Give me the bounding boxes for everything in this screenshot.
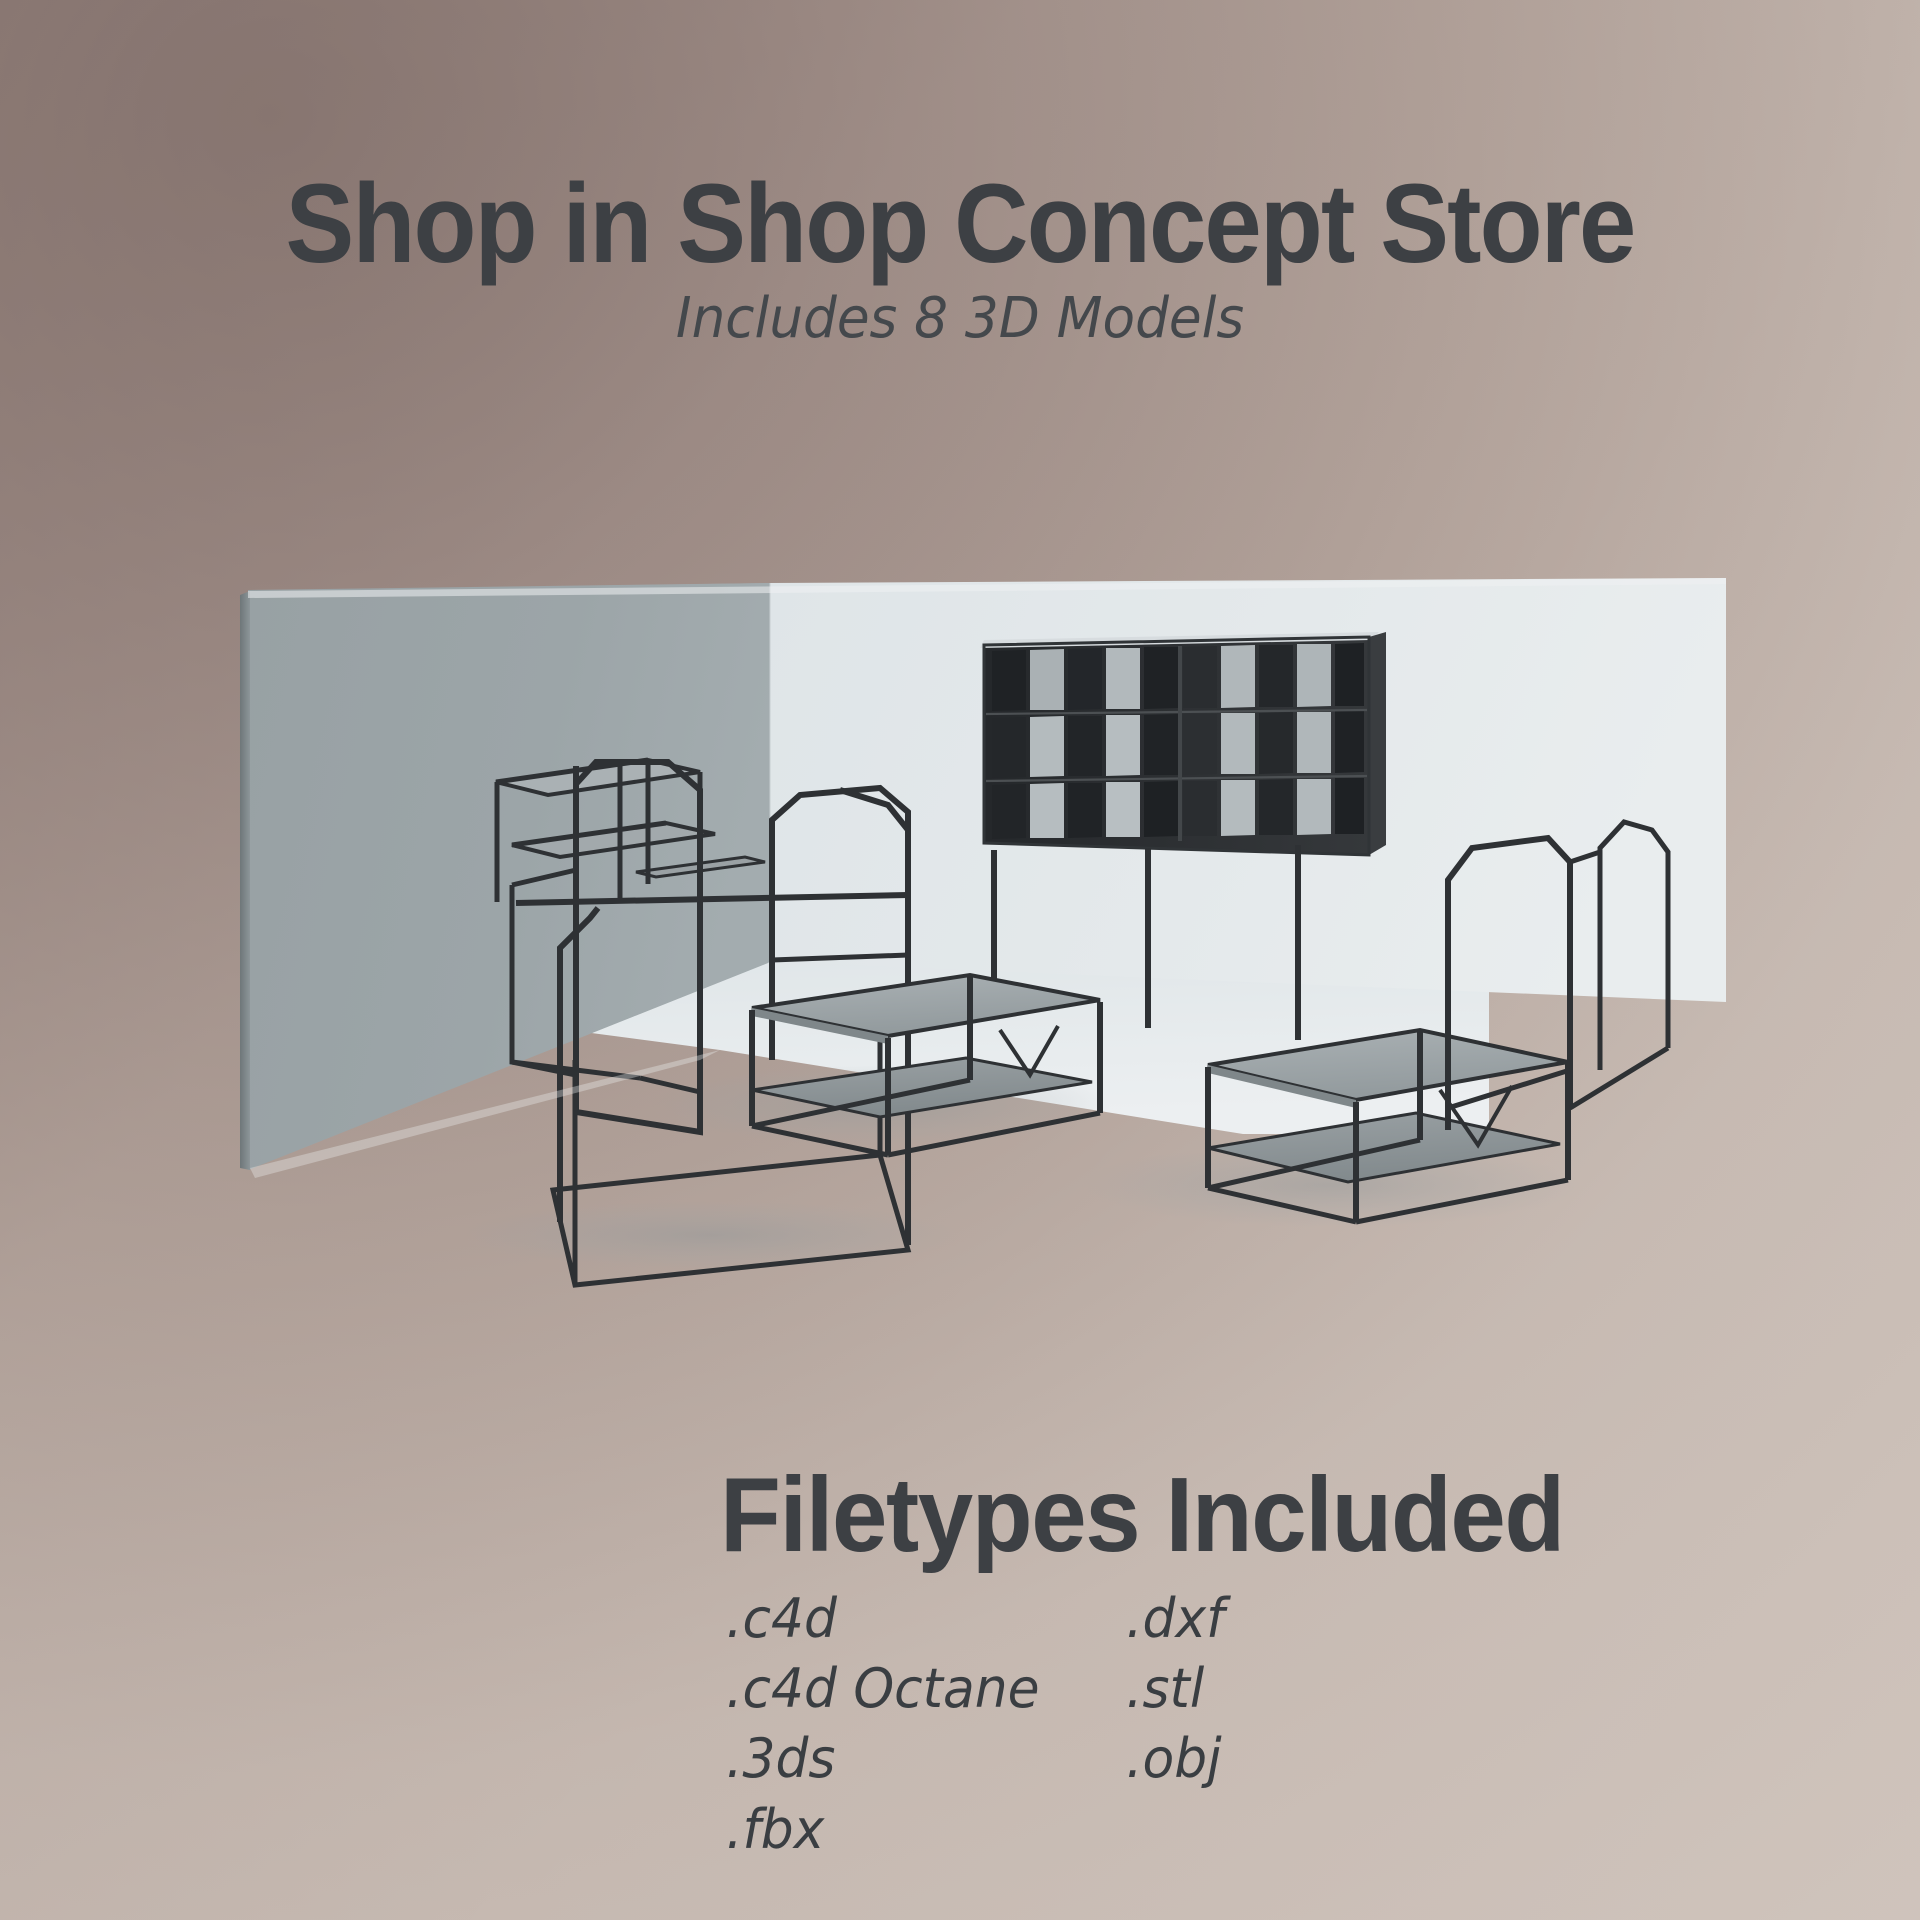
filetype-item: .stl: [1126, 1654, 1510, 1724]
shadow-front-rack: [460, 1201, 960, 1269]
page-subtitle: Includes 8 3D Models: [48, 290, 1872, 349]
filetype-item: .dxf: [1126, 1584, 1510, 1654]
filetype-item: .3ds: [726, 1724, 1110, 1794]
cubby-right-side: [1369, 632, 1386, 855]
filetypes-block: Filetypes Included .c4d .c4d Octane .3ds…: [720, 1462, 1880, 1865]
wall-grey-face: [248, 583, 770, 1170]
filetypes-left-column: .c4d .c4d Octane .3ds .fbx: [726, 1584, 1126, 1865]
wall-grey-left-edge: [240, 591, 250, 1170]
page-title: Shop in Shop Concept Store: [77, 168, 1843, 280]
filetype-item: .fbx: [726, 1795, 1110, 1865]
filetype-item: .c4d Octane: [726, 1654, 1110, 1724]
filetype-item: .c4d: [726, 1584, 1110, 1654]
filetype-item: .obj: [1126, 1724, 1510, 1794]
filetypes-columns: .c4d .c4d Octane .3ds .fbx .dxf .stl .ob…: [726, 1584, 1880, 1865]
filetypes-heading: Filetypes Included: [720, 1462, 1810, 1568]
title-block: Shop in Shop Concept Store Includes 8 3D…: [0, 168, 1920, 349]
rack-right-rail-bottom: [1570, 1048, 1668, 1108]
filetypes-right-column: .dxf .stl .obj: [1126, 1584, 1526, 1865]
